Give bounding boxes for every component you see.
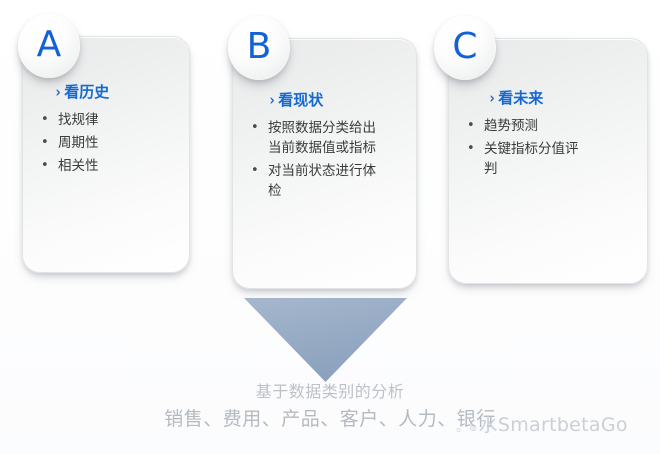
card-c-heading: › 看未来	[489, 89, 633, 107]
down-arrow	[244, 298, 407, 382]
card-c-heading-text: 看未来	[498, 89, 543, 107]
badge-a: A	[18, 14, 80, 78]
badge-b: B	[228, 16, 290, 80]
card-b-heading-text: 看现状	[278, 91, 323, 109]
list-item: 趋势预测	[467, 117, 589, 137]
list-item: 按照数据分类给出当前数据值或指标	[251, 119, 377, 159]
chevron-right-icon: ›	[55, 85, 60, 100]
chevron-right-icon: ›	[269, 93, 274, 108]
list-item: 关键指标分值评判	[467, 140, 589, 180]
card-b-bullet-list: 按照数据分类给出当前数据值或指标 对当前状态进行体检	[251, 119, 377, 202]
chevron-right-icon: ›	[489, 91, 494, 106]
caption-line-1: 基于数据类别的分析	[0, 380, 660, 403]
card-b-heading: › 看现状	[269, 91, 402, 109]
badge-c-letter: C	[452, 29, 477, 65]
list-item: 找规律	[41, 111, 175, 131]
badge-a-letter: A	[37, 27, 62, 63]
list-item: 对当前状态进行体检	[251, 162, 377, 202]
badge-b-letter: B	[247, 29, 272, 65]
watermark-text: 水SmartbetaGo	[479, 414, 628, 436]
list-item: 周期性	[41, 134, 175, 154]
card-a-heading: › 看历史	[55, 83, 175, 101]
down-triangle-icon	[244, 298, 407, 382]
card-a-heading-text: 看历史	[64, 83, 109, 101]
card-a-bullet-list: 找规律 周期性 相关性	[41, 111, 175, 177]
watermark-mark: 。๏	[456, 420, 478, 435]
badge-c: C	[434, 16, 496, 80]
list-item: 相关性	[41, 157, 175, 177]
slide-canvas: › 看历史 找规律 周期性 相关性 A › 看现状 按照数据分类给出当前数据值或…	[0, 0, 660, 454]
watermark: 。๏水SmartbetaGo	[456, 410, 628, 437]
card-c-bullet-list: 趋势预测 关键指标分值评判	[467, 117, 589, 180]
